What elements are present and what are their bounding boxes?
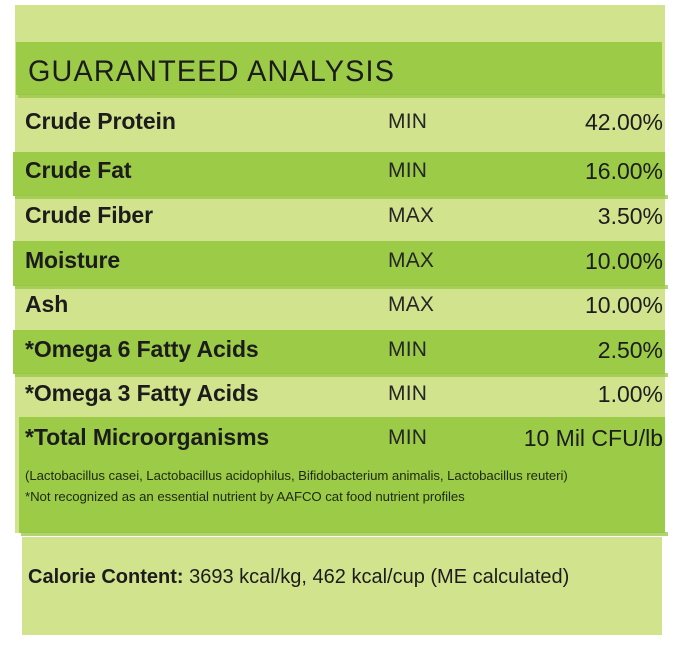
nutrient-qualifier: MAX <box>388 204 434 228</box>
nutrient-label: *Omega 3 Fatty Acids <box>25 380 259 407</box>
table-row: *Total Microorganisms MIN 10 Mil CFU/lb <box>0 424 679 468</box>
nutrient-qualifier: MIN <box>388 159 427 183</box>
table-row: Moisture MAX 10.00% <box>0 247 679 291</box>
nutrient-qualifier: MAX <box>388 293 434 317</box>
nutrient-qualifier: MIN <box>388 338 427 362</box>
page-title: GUARANTEED ANALYSIS <box>28 55 395 89</box>
footnote-probiotic-strains: (Lactobacillus casei, Lactobacillus acid… <box>25 468 568 483</box>
nutrient-qualifier: MIN <box>388 382 427 406</box>
calorie-content-label: Calorie Content: <box>28 566 189 588</box>
table-row: *Omega 6 Fatty Acids MIN 2.50% <box>0 336 679 380</box>
nutrient-value: 10.00% <box>585 248 663 275</box>
nutrient-value: 10.00% <box>585 292 663 319</box>
nutrient-label: Moisture <box>25 247 120 274</box>
nutrient-label: Crude Protein <box>25 108 176 135</box>
nutrient-label: *Total Microorganisms <box>25 424 269 451</box>
nutrient-label: *Omega 6 Fatty Acids <box>25 336 259 363</box>
table-row: Crude Fat MIN 16.00% <box>0 157 679 201</box>
table-row: Crude Protein MIN 42.00% <box>0 108 679 152</box>
table-row: Ash MAX 10.00% <box>0 291 679 335</box>
nutrient-qualifier: MIN <box>388 426 427 450</box>
guaranteed-analysis-panel: GUARANTEED ANALYSIS Crude Protein MIN 42… <box>0 0 679 645</box>
nutrient-label: Crude Fat <box>25 157 131 184</box>
nutrient-qualifier: MIN <box>388 110 427 134</box>
table-row: Crude Fiber MAX 3.50% <box>0 202 679 246</box>
nutrient-value: 42.00% <box>585 109 663 136</box>
calorie-content-value: 3693 kcal/kg, 462 kcal/cup (ME calculate… <box>189 566 569 588</box>
footnote-aafco-disclaimer: *Not recognized as an essential nutrient… <box>25 489 465 504</box>
nutrient-value: 10 Mil CFU/lb <box>524 425 663 452</box>
nutrient-value: 2.50% <box>598 337 663 364</box>
nutrient-label: Crude Fiber <box>25 202 153 229</box>
calorie-content: Calorie Content: 3693 kcal/kg, 462 kcal/… <box>28 566 569 589</box>
table-row: *Omega 3 Fatty Acids MIN 1.00% <box>0 380 679 424</box>
nutrient-label: Ash <box>25 291 68 318</box>
nutrient-value: 3.50% <box>598 203 663 230</box>
nutrient-value: 1.00% <box>598 381 663 408</box>
nutrient-value: 16.00% <box>585 158 663 185</box>
nutrient-qualifier: MAX <box>388 249 434 273</box>
